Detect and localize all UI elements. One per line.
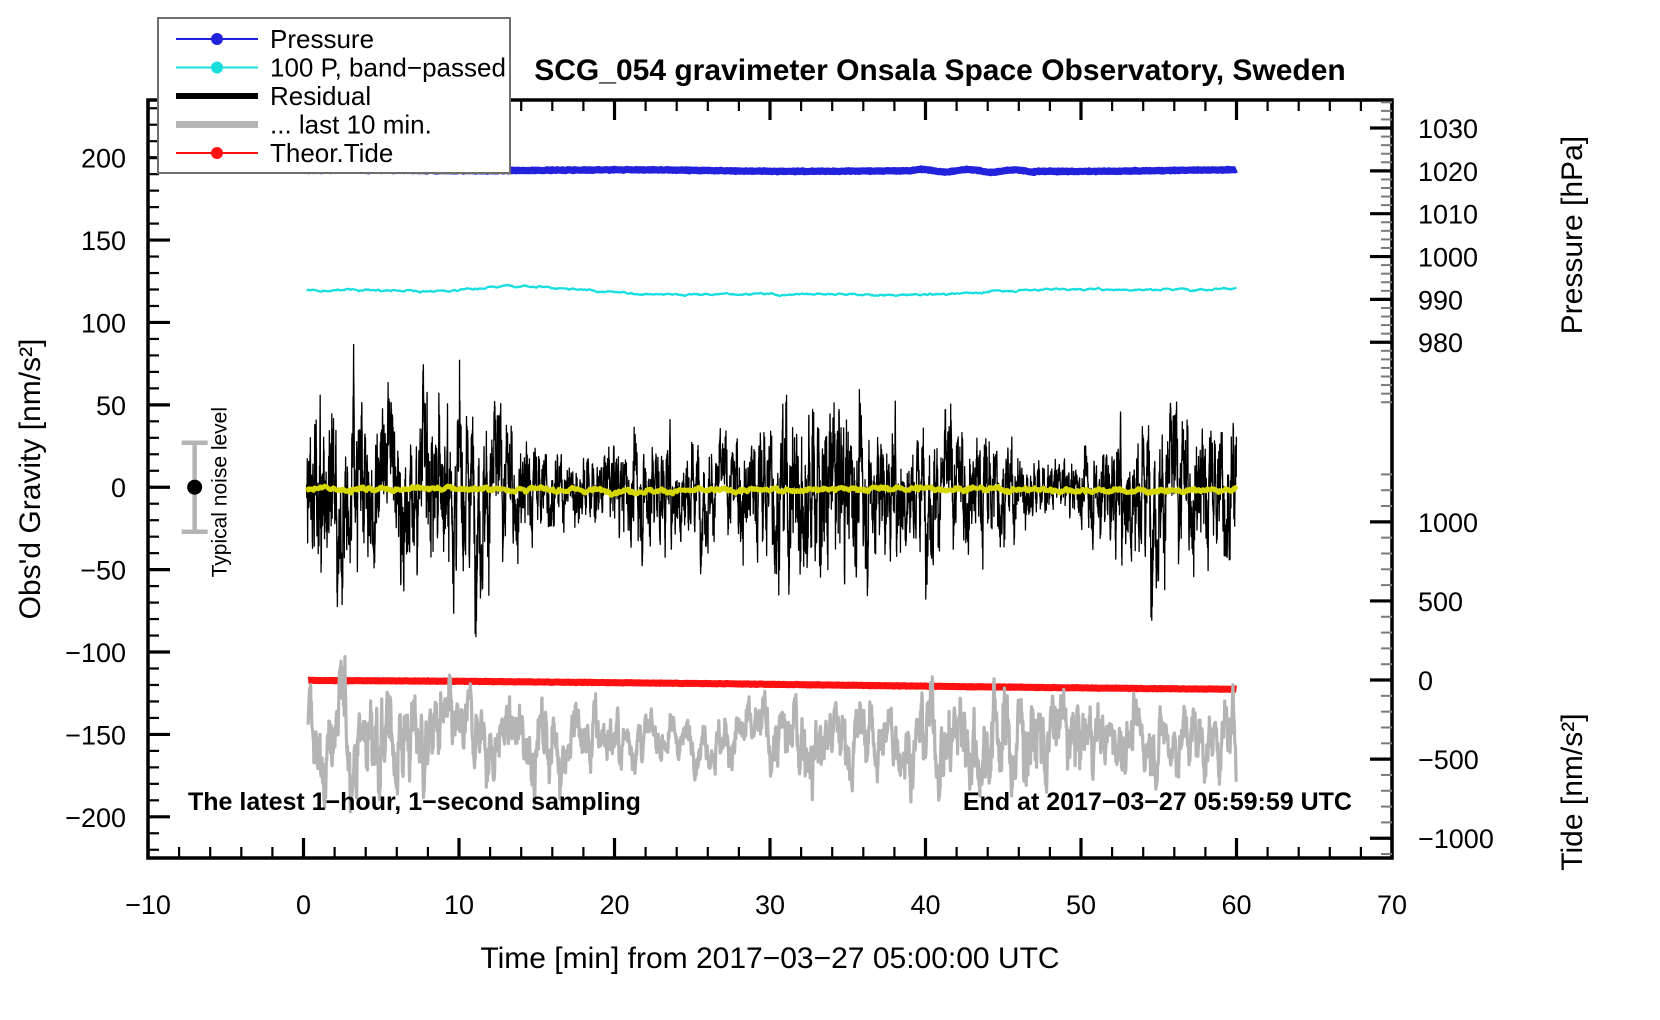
gravimeter-chart: −10010203040506070Time [min] from 2017−0…: [0, 0, 1660, 1020]
footer-left-annotation: The latest 1−hour, 1−second sampling: [188, 788, 641, 816]
noise-level-label: Typical noise level: [209, 407, 232, 577]
xtick-label: −10: [125, 890, 171, 920]
ytick-label: −50: [80, 556, 126, 586]
pressure-axis-title: Pressure [hPa]: [1556, 136, 1589, 334]
xtick-label: 20: [599, 890, 629, 920]
ytick-label: 100: [81, 308, 126, 338]
page-title: SCG_054 gravimeter Onsala Space Observat…: [534, 54, 1346, 87]
xtick-label: 0: [296, 890, 311, 920]
tide-tick-label: 1000: [1418, 508, 1478, 538]
tide-tick-label: −1000: [1418, 824, 1494, 854]
ytick-label: 50: [96, 391, 126, 421]
pressure-tick-label: 1010: [1418, 200, 1478, 230]
legend-marker-1: [211, 62, 223, 74]
xtick-label: 60: [1221, 890, 1251, 920]
footer-right-annotation: End at 2017−03−27 05:59:59 UTC: [963, 788, 1352, 816]
xtick-label: 10: [444, 890, 474, 920]
ytick-label: −150: [65, 720, 126, 750]
y-axis-title: Obs'd Gravity [nm/s²]: [14, 339, 47, 620]
legend-marker-4: [211, 147, 223, 159]
pressure-tick-label: 990: [1418, 285, 1463, 315]
xtick-label: 70: [1377, 890, 1407, 920]
tide-axis-title: Tide [nm/s²]: [1556, 713, 1589, 870]
figure-canvas: −10010203040506070Time [min] from 2017−0…: [0, 0, 1660, 1020]
legend-label-0: Pressure: [270, 24, 374, 54]
noise-bar-point: [187, 480, 202, 495]
ytick-label: 150: [81, 226, 126, 256]
xtick-label: 50: [1066, 890, 1096, 920]
pressure-tick-label: 1020: [1418, 157, 1478, 187]
ytick-label: 200: [81, 144, 126, 174]
pressure-tick-label: 980: [1418, 328, 1463, 358]
pressure-tick-label: 1000: [1418, 243, 1478, 273]
xtick-label: 30: [755, 890, 785, 920]
tide-tick-label: 500: [1418, 587, 1463, 617]
tide-tick-label: 0: [1418, 666, 1433, 696]
legend-marker-0: [211, 33, 223, 45]
pressure-tick-label: 1030: [1418, 114, 1478, 144]
legend-label-1: 100 P, band−passed: [270, 53, 506, 83]
ytick-label: −200: [65, 803, 126, 833]
legend-label-3: ... last 10 min.: [270, 110, 432, 140]
ytick-label: 0: [111, 473, 126, 503]
ytick-label: −100: [65, 638, 126, 668]
tide-tick-label: −500: [1418, 745, 1479, 775]
legend-label-4: Theor.Tide: [270, 138, 393, 168]
x-axis-title: Time [min] from 2017−03−27 05:00:00 UTC: [480, 942, 1059, 975]
legend-label-2: Residual: [270, 81, 371, 111]
xtick-label: 40: [910, 890, 940, 920]
